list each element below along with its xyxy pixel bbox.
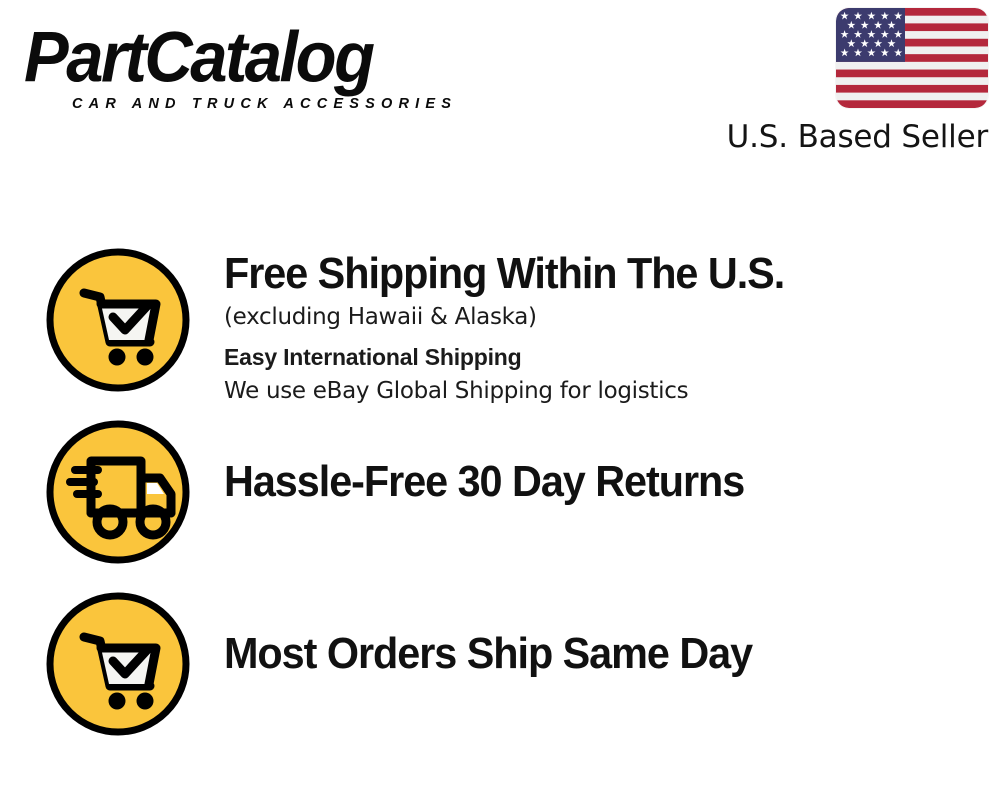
brand-wordmark: PartCatalog (24, 20, 494, 96)
delivery-truck-icon (44, 418, 192, 566)
benefit-row: Free Shipping Within The U.S. (excluding… (0, 246, 1000, 408)
benefit-title: Most Orders Ship Same Day (224, 628, 953, 680)
benefit-row: Hassle-Free 30 Day Returns (0, 418, 1000, 566)
benefit-title: Free Shipping Within The U.S. (224, 248, 953, 300)
benefit-title: Hassle-Free 30 Day Returns (224, 456, 953, 508)
benefit-text-block: Free Shipping Within The U.S. (excluding… (224, 246, 1000, 408)
benefit-row: Most Orders Ship Same Day (0, 590, 1000, 738)
benefit-subtitle-exclusion: (excluding Hawaii & Alaska) (224, 300, 1000, 334)
benefit-subtitle-logistics: We use eBay Global Shipping for logistic… (224, 374, 1000, 408)
brand-logo: PartCatalog CAR AND TRUCK ACCESSORIES (24, 20, 494, 115)
benefit-text-block: Hassle-Free 30 Day Returns (224, 418, 1000, 508)
benefit-text-block: Most Orders Ship Same Day (224, 590, 1000, 680)
brand-tagline: CAR AND TRUCK ACCESSORIES (72, 96, 494, 112)
shopping-cart-check-icon (44, 246, 192, 394)
us-flag-icon (836, 8, 988, 108)
us-based-seller-badge: U.S. Based Seller (698, 8, 988, 157)
benefit-subtitle-international: Easy International Shipping (224, 340, 1000, 374)
shopping-cart-check-icon (44, 590, 192, 738)
us-based-seller-label: U.S. Based Seller (698, 117, 988, 157)
